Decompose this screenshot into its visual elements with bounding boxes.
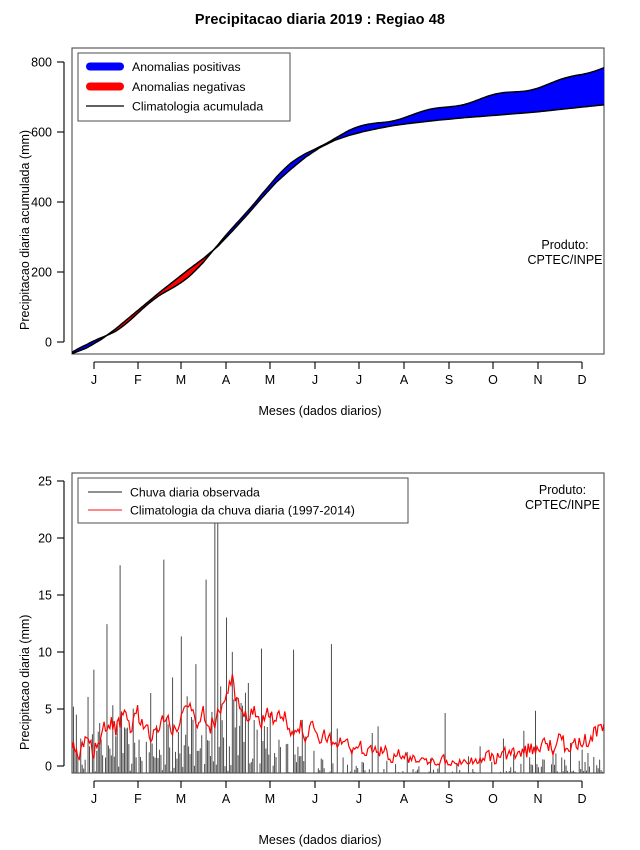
y-tick-labels-top: 800 600 400 200 0: [31, 56, 52, 350]
x-tick-dec: D: [577, 373, 586, 387]
x-axis-bottom: [94, 781, 582, 788]
y-tick-10: 10: [38, 646, 52, 660]
x-tick-apr: A: [222, 373, 231, 387]
legend-label-negative-anomaly: Anomalias negativas: [132, 80, 245, 94]
x-tick-labels-bottom: J F M A M J J A S O N D: [91, 792, 587, 806]
legend-bottom: Chuva diaria observada Climatologia da c…: [78, 478, 408, 523]
x-tick-mar: M: [176, 373, 186, 387]
x-axis-top: [94, 362, 582, 369]
x-tick-jun: J: [312, 373, 318, 387]
x-tick-jan: J: [91, 373, 97, 387]
x-tick-mar: M: [176, 792, 186, 806]
x-tick-labels-top: J F M A M J J A S O N D: [91, 373, 587, 387]
y-tick-400: 400: [31, 196, 52, 210]
x-tick-dec: D: [577, 792, 586, 806]
x-tick-sep: S: [445, 373, 453, 387]
panel-daily-precipitation: Precipitacao diaria (mm) Meses (dados di…: [0, 425, 640, 850]
x-tick-aug: A: [400, 792, 409, 806]
x-tick-apr: A: [222, 792, 231, 806]
y-tick-5: 5: [45, 703, 52, 717]
x-tick-sep: S: [445, 792, 453, 806]
x-tick-may: M: [265, 373, 275, 387]
x-tick-may: M: [265, 792, 275, 806]
x-tick-oct: O: [488, 792, 498, 806]
y-tick-25: 25: [38, 475, 52, 489]
x-tick-feb: F: [134, 792, 142, 806]
y-axis-top: [57, 62, 64, 342]
legend-label-positive-anomaly: Anomalias positivas: [132, 60, 241, 74]
climatology-accumulated-line: [72, 105, 604, 354]
y-tick-20: 20: [38, 532, 52, 546]
y-tick-200: 200: [31, 266, 52, 280]
y-tick-15: 15: [38, 589, 52, 603]
x-tick-jul: J: [356, 373, 362, 387]
daily-series-group: [72, 505, 604, 773]
legend-label-climatology-accumulated: Climatologia acumulada: [132, 100, 263, 114]
y-tick-600: 600: [31, 126, 52, 140]
x-tick-nov: N: [533, 373, 542, 387]
daily-precipitation-plot: 25 20 15 10 5 0: [0, 425, 640, 850]
x-tick-nov: N: [533, 792, 542, 806]
legend-label-climatology-daily: Climatologia da chuva diaria (1997-2014): [130, 504, 355, 518]
x-tick-jul: J: [356, 792, 362, 806]
panel-accumulated-precipitation: Precipitacao diaria 2019 : Regiao 48 Pre…: [0, 0, 640, 425]
x-tick-jun: J: [312, 792, 318, 806]
legend-top: Anomalias positivas Anomalias negativas …: [78, 53, 290, 121]
accumulated-precipitation-plot: 800 600 400 200 0: [0, 0, 640, 425]
x-tick-feb: F: [134, 373, 142, 387]
x-tick-aug: A: [400, 373, 409, 387]
x-tick-oct: O: [488, 373, 498, 387]
legend-label-observed-daily: Chuva diaria observada: [130, 486, 260, 500]
y-tick-0: 0: [45, 336, 52, 350]
y-axis-bottom: [57, 481, 64, 766]
x-tick-jan: J: [91, 792, 97, 806]
legend-swatch-negative-anomaly: [86, 83, 124, 91]
figure-root: Precipitacao diaria 2019 : Regiao 48 Pre…: [0, 0, 640, 850]
y-tick-0: 0: [45, 760, 52, 774]
y-tick-800: 800: [31, 56, 52, 70]
y-tick-labels-bottom: 25 20 15 10 5 0: [38, 475, 52, 774]
legend-swatch-positive-anomaly: [86, 63, 124, 71]
